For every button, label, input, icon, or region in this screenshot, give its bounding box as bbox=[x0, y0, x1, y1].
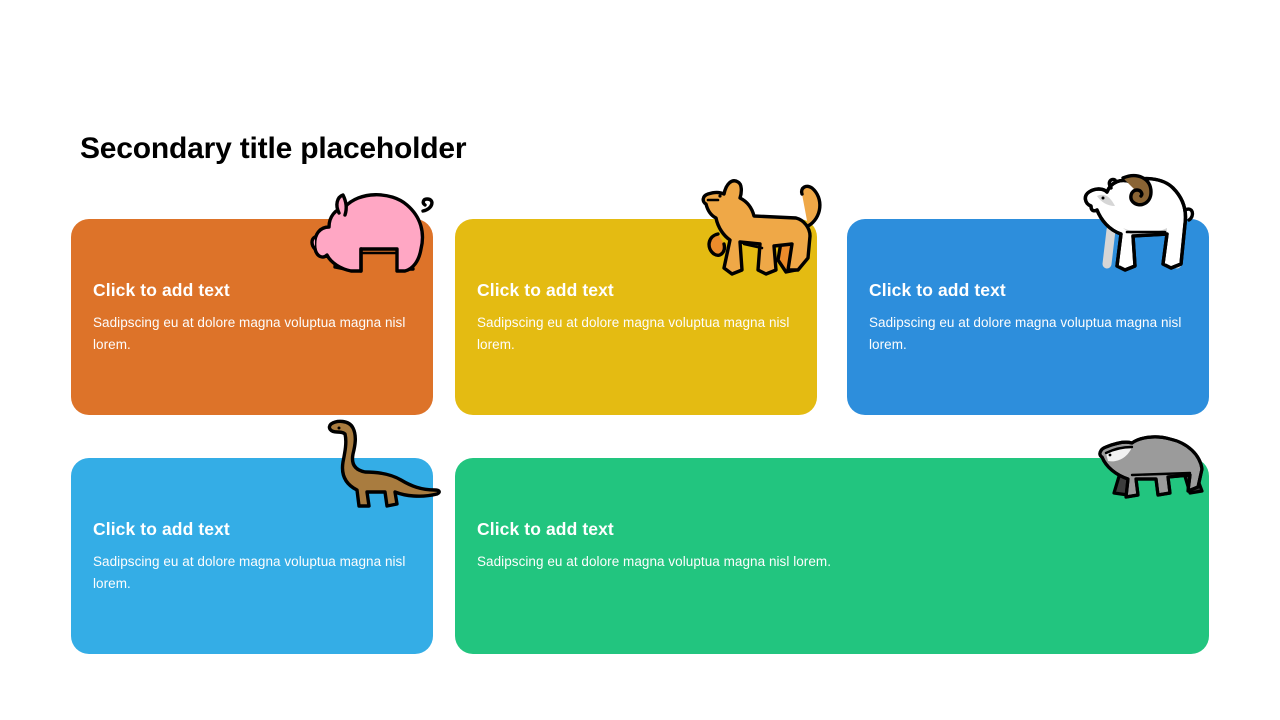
card-4-heading[interactable]: Click to add text bbox=[93, 519, 415, 540]
content-card-2[interactable]: Click to add text Sadipscing eu at dolor… bbox=[455, 219, 817, 415]
content-card-4[interactable]: Click to add text Sadipscing eu at dolor… bbox=[71, 458, 433, 654]
card-5-body: Click to add text Sadipscing eu at dolor… bbox=[477, 519, 1191, 573]
slide-canvas: Secondary title placeholder Click to add… bbox=[0, 0, 1280, 720]
card-4-body: Click to add text Sadipscing eu at dolor… bbox=[93, 519, 415, 595]
card-3-heading[interactable]: Click to add text bbox=[869, 280, 1191, 301]
card-4-text[interactable]: Sadipscing eu at dolore magna voluptua m… bbox=[93, 551, 415, 595]
card-2-text[interactable]: Sadipscing eu at dolore magna voluptua m… bbox=[477, 312, 799, 356]
content-card-5[interactable]: Click to add text Sadipscing eu at dolor… bbox=[455, 458, 1209, 654]
card-2-heading[interactable]: Click to add text bbox=[477, 280, 799, 301]
card-5-text[interactable]: Sadipscing eu at dolore magna voluptua m… bbox=[477, 551, 1191, 573]
content-card-3[interactable]: Click to add text Sadipscing eu at dolor… bbox=[847, 219, 1209, 415]
card-1-body: Click to add text Sadipscing eu at dolor… bbox=[93, 280, 415, 356]
page-title: Secondary title placeholder bbox=[80, 131, 466, 167]
card-2-body: Click to add text Sadipscing eu at dolor… bbox=[477, 280, 799, 356]
content-card-1[interactable]: Click to add text Sadipscing eu at dolor… bbox=[71, 219, 433, 415]
card-5-heading[interactable]: Click to add text bbox=[477, 519, 1191, 540]
card-3-text[interactable]: Sadipscing eu at dolore magna voluptua m… bbox=[869, 312, 1191, 356]
card-3-body: Click to add text Sadipscing eu at dolor… bbox=[869, 280, 1191, 356]
card-1-text[interactable]: Sadipscing eu at dolore magna voluptua m… bbox=[93, 312, 415, 356]
card-1-heading[interactable]: Click to add text bbox=[93, 280, 415, 301]
